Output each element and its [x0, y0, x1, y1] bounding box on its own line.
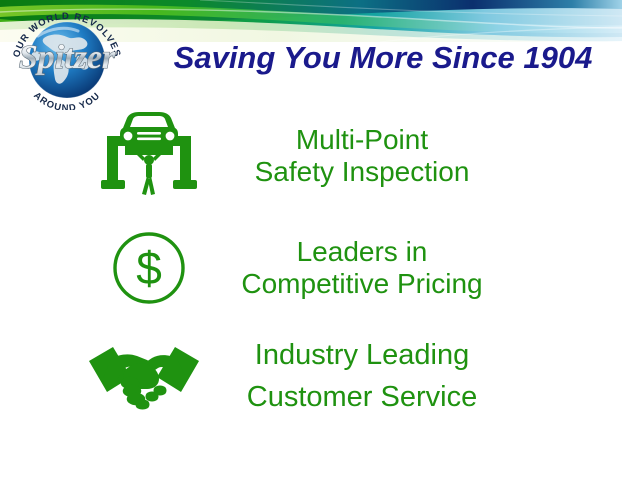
spitzer-logo: OUR WORLD REVOLVES AROUND YOU Spitzer [4, 6, 130, 110]
feature-line: Leaders in [210, 236, 514, 268]
svg-text:$: $ [136, 242, 162, 294]
feature-line: Safety Inspection [210, 156, 514, 188]
feature-line: Industry Leading [210, 334, 514, 376]
feature-line: Competitive Pricing [210, 268, 514, 300]
logo-brand-text: Spitzer [19, 39, 116, 76]
feature-row-customer-service: Industry Leading Customer Service [78, 330, 622, 422]
feature-text-safety-inspection: Multi-Point Safety Inspection [210, 124, 622, 189]
feature-text-customer-service: Industry Leading Customer Service [210, 334, 622, 418]
dollar-circle-icon: $ [88, 229, 210, 307]
feature-row-competitive-pricing: $ Leaders in Competitive Pricing [88, 222, 622, 314]
handshake-icon [78, 337, 210, 415]
feature-line: Customer Service [210, 376, 514, 418]
feature-row-safety-inspection: Multi-Point Safety Inspection [88, 108, 622, 204]
feature-text-competitive-pricing: Leaders in Competitive Pricing [210, 236, 622, 301]
car-lift-icon [88, 110, 210, 202]
page-title: Saving You More Since 1904 [150, 40, 616, 76]
promo-slide: OUR WORLD REVOLVES AROUND YOU Spitzer Sa… [0, 0, 622, 483]
feature-line: Multi-Point [210, 124, 514, 156]
